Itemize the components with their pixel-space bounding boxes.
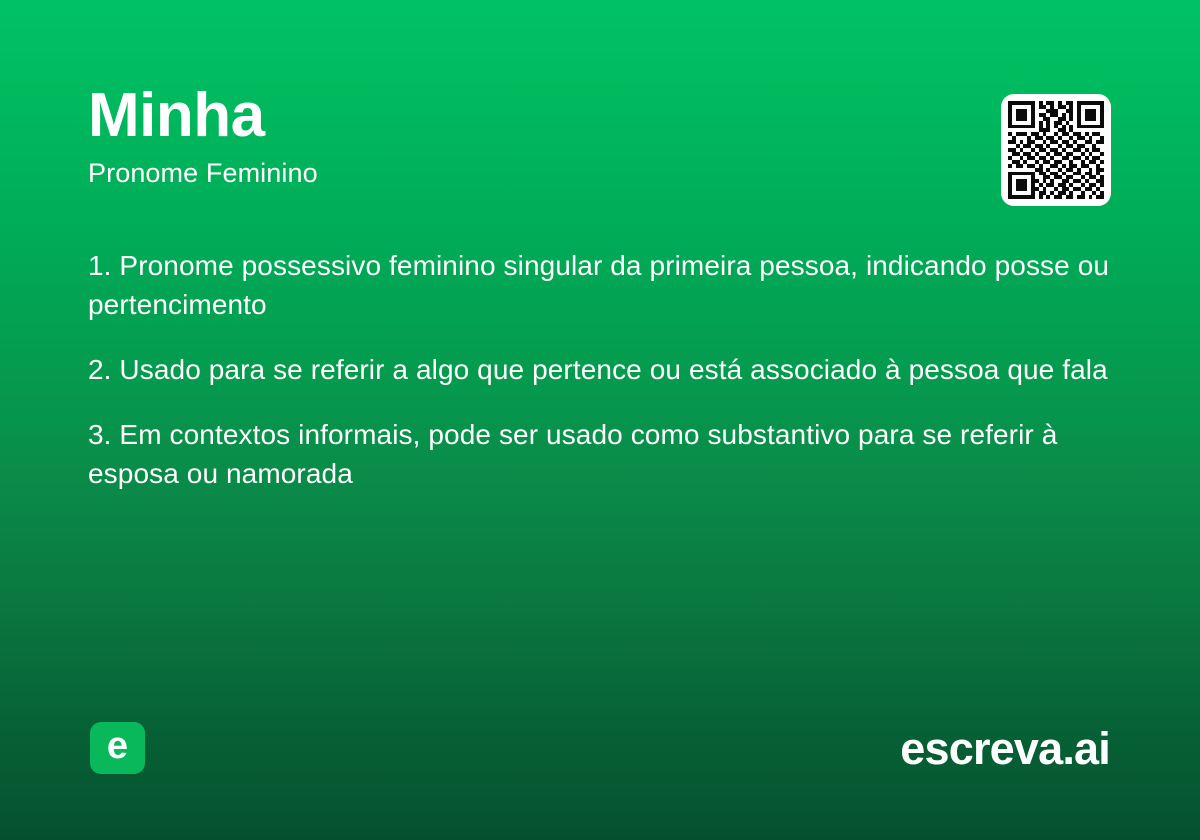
brand-wordmark: escreva.ai xyxy=(900,724,1110,774)
definition-item: 2. Usado para se referir a algo que pert… xyxy=(88,350,1114,389)
brand-logo[interactable]: e xyxy=(90,722,145,774)
logo-letter: e xyxy=(107,727,128,765)
definition-card: Minha Pronome Feminino 1. Pronome posses… xyxy=(0,0,1200,840)
definition-item: 1. Pronome possessivo feminino singular … xyxy=(88,246,1114,324)
word-class-subtitle: Pronome Feminino xyxy=(88,156,1112,190)
card-footer: e escreva.ai xyxy=(88,722,1112,778)
definition-item: 3. Em contextos informais, pode ser usad… xyxy=(88,415,1114,493)
page-title: Minha xyxy=(88,82,1112,150)
qr-code-card[interactable] xyxy=(1001,94,1111,206)
definition-list: 1. Pronome possessivo feminino singular … xyxy=(88,246,1114,493)
card-header: Minha Pronome Feminino xyxy=(88,82,1112,190)
qr-code-icon xyxy=(1008,101,1104,199)
